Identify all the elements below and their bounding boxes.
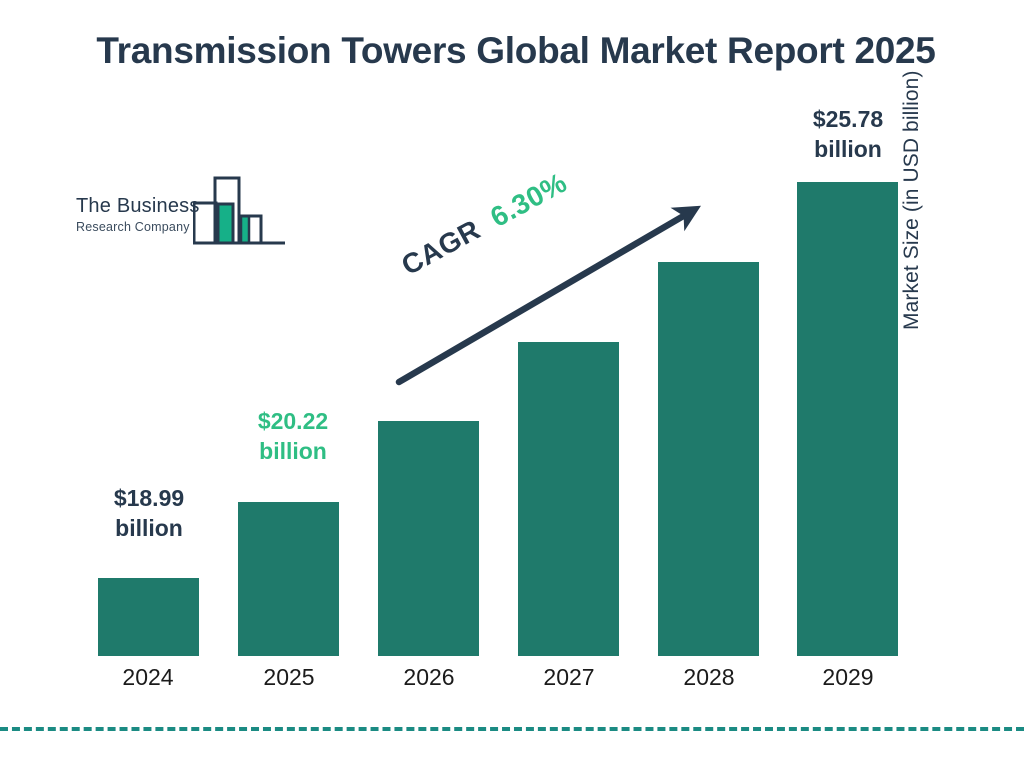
y-axis-title: Market Size (in USD billion): [900, 0, 924, 330]
x-tick-2026: 2026: [359, 664, 499, 691]
bar-2027: [518, 342, 619, 656]
x-tick-2028: 2028: [639, 664, 779, 691]
footer-divider: [0, 727, 1024, 731]
cagr-value: 6.30%: [485, 167, 572, 233]
bar-2025: [238, 502, 339, 656]
x-tick-2029: 2029: [778, 664, 918, 691]
chart-plot-area: 2024 2025 2026 2027 2028 2029 $18.99 bil…: [0, 0, 1024, 768]
bar-2026: [378, 421, 479, 656]
cagr-label: CAGR 6.30%: [396, 167, 572, 282]
bar-2028: [658, 262, 759, 656]
x-tick-2027: 2027: [499, 664, 639, 691]
value-label-2029: $25.78 billion: [781, 104, 915, 165]
value-label-2024: $18.99 billion: [82, 483, 216, 544]
bar-2024: [98, 578, 199, 656]
x-tick-2024: 2024: [78, 664, 218, 691]
value-label-2025: $20.22 billion: [226, 406, 360, 467]
x-tick-2025: 2025: [219, 664, 359, 691]
cagr-word: CAGR: [396, 214, 485, 282]
bar-2029: [797, 182, 898, 656]
chart-page: Transmission Towers Global Market Report…: [0, 0, 1024, 768]
